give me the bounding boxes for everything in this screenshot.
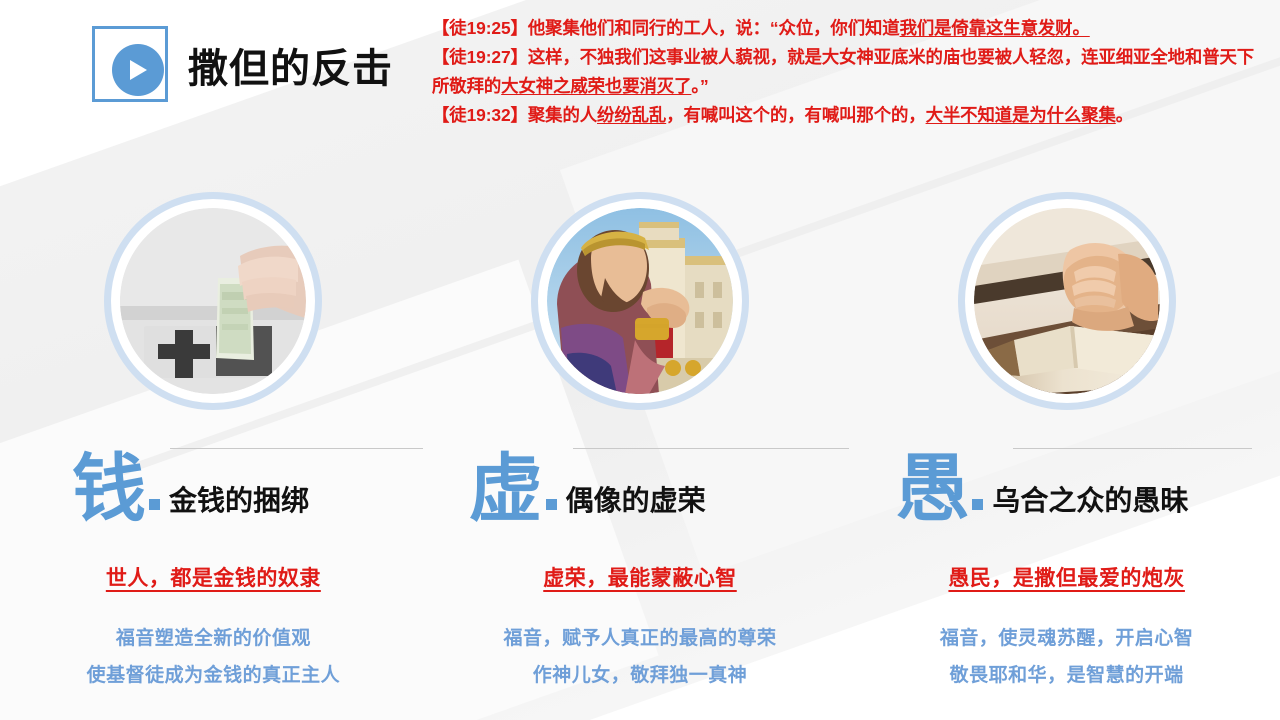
slide-header: 撒但的反击 【徒19:25】他聚集他们和同行的工人，说：“众位，你们知道我们是倚… [0,0,1280,170]
scripture-ref-1925: 【徒19:25】 [432,18,528,38]
column-rule [170,448,423,449]
column-claim-money: 世人，都是金钱的奴隶 [0,562,427,592]
photo-ring-money [104,192,322,410]
hand-dropping-money-into-offering-box-photo [120,208,306,394]
clasped-hands-praying-over-bible-photo [974,208,1160,394]
big-character: 虚 [469,456,543,521]
scripture-line-1: 【徒19:25】他聚集他们和同行的工人，说：“众位，你们知道我们是倚靠这生意发财… [432,14,1270,43]
column-gospel-folly: 福音，使灵魂苏醒，开启心智 敬畏耶和华，是智慧的开端 [853,620,1280,694]
photo-ring-vanity [531,192,749,410]
column-claim-vanity: 虚荣，最能蒙蔽心智 [427,562,854,592]
square-bullet-icon [149,499,160,510]
scripture-line-3-underline-1: 纷纷乱乱 [597,105,666,125]
title-block: 撒但的反击 [88,22,418,108]
square-bullet-icon [972,499,983,510]
column-money: 钱 金钱的捆绑 世人，都是金钱的奴隶 福音塑造全新的价值观 使基督徒成为金钱的真… [0,180,427,720]
scripture-line-3-mid: ，有喊叫这个的，有喊叫那个的， [666,105,925,125]
gospel-line-1: 福音，赋予人真正的最高的尊荣 [427,620,854,657]
scripture-ref-1932: 【徒19:32】 [432,105,528,125]
scripture-line-2-underline: 大女神之威荣也要消灭了 [501,76,691,96]
play-triangle-icon [128,59,148,81]
scripture-passage: 【徒19:25】他聚集他们和同行的工人，说：“众位，你们知道我们是倚靠这生意发财… [432,14,1270,130]
column-gospel-vanity: 福音，赋予人真正的最高的尊荣 作神儿女，敬拜独一真神 [427,620,854,694]
three-column-section: 钱 金钱的捆绑 世人，都是金钱的奴隶 福音塑造全新的价值观 使基督徒成为金钱的真… [0,180,1280,720]
scripture-ref-1927: 【徒19:27】 [432,47,528,67]
column-heading-vanity: 虚 偶像的虚荣 [469,456,706,521]
column-claim-folly: 愚民，是撒但最爱的炮灰 [853,562,1280,592]
scripture-line-3-tail: 。 [1116,105,1133,125]
photo-ring-folly [958,192,1176,410]
column-rule [1013,448,1252,449]
column-folly: 愚 乌合之众的愚昧 愚民，是撒但最爱的炮灰 福音，使灵魂苏醒，开启心智 敬畏耶和… [853,180,1280,720]
big-character: 钱 [72,456,146,521]
column-rule [573,448,850,449]
play-badge [88,26,172,104]
column-subtitle: 偶像的虚荣 [566,487,706,521]
big-character: 愚 [895,456,969,521]
scripture-line-3-text: 聚集的人 [528,105,597,125]
gospel-line-1: 福音，使灵魂苏醒，开启心智 [853,620,1280,657]
gospel-line-1: 福音塑造全新的价值观 [0,620,427,657]
column-subtitle: 乌合之众的愚昧 [992,487,1188,521]
scripture-line-1-text: 他聚集他们和同行的工人，说：“众位，你们知道 [528,18,900,38]
scripture-line-3-underline-2: 大半不知道是为什么聚集 [926,105,1116,125]
scripture-line-2: 【徒19:27】这样，不独我们这事业被人藐视，就是大女神亚底米的庙也要被人轻忽，… [432,43,1270,101]
column-subtitle: 金钱的捆绑 [169,487,309,521]
scripture-line-3: 【徒19:32】聚集的人纷纷乱乱，有喊叫这个的，有喊叫那个的，大半不知道是为什么… [432,101,1270,130]
gospel-line-2: 敬畏耶和华，是智慧的开端 [853,657,1280,694]
square-bullet-icon [546,499,557,510]
play-circle [112,44,164,96]
column-gospel-money: 福音塑造全新的价值观 使基督徒成为金钱的真正主人 [0,620,427,694]
gospel-line-2: 使基督徒成为金钱的真正主人 [0,657,427,694]
king-praying-before-temple-illustration [547,208,733,394]
scripture-line-2-tail: 。” [691,76,708,96]
presentation-slide: 撒但的反击 【徒19:25】他聚集他们和同行的工人，说：“众位，你们知道我们是倚… [0,0,1280,720]
column-heading-folly: 愚 乌合之众的愚昧 [895,456,1188,521]
column-heading-money: 钱 金钱的捆绑 [72,456,309,521]
page-title: 撒但的反击 [188,36,393,94]
scripture-line-1-underline: 我们是倚靠这生意发财。 [900,18,1090,38]
gospel-line-2: 作神儿女，敬拜独一真神 [427,657,854,694]
column-vanity: 虚 偶像的虚荣 虚荣，最能蒙蔽心智 福音，赋予人真正的最高的尊荣 作神儿女，敬拜… [427,180,854,720]
